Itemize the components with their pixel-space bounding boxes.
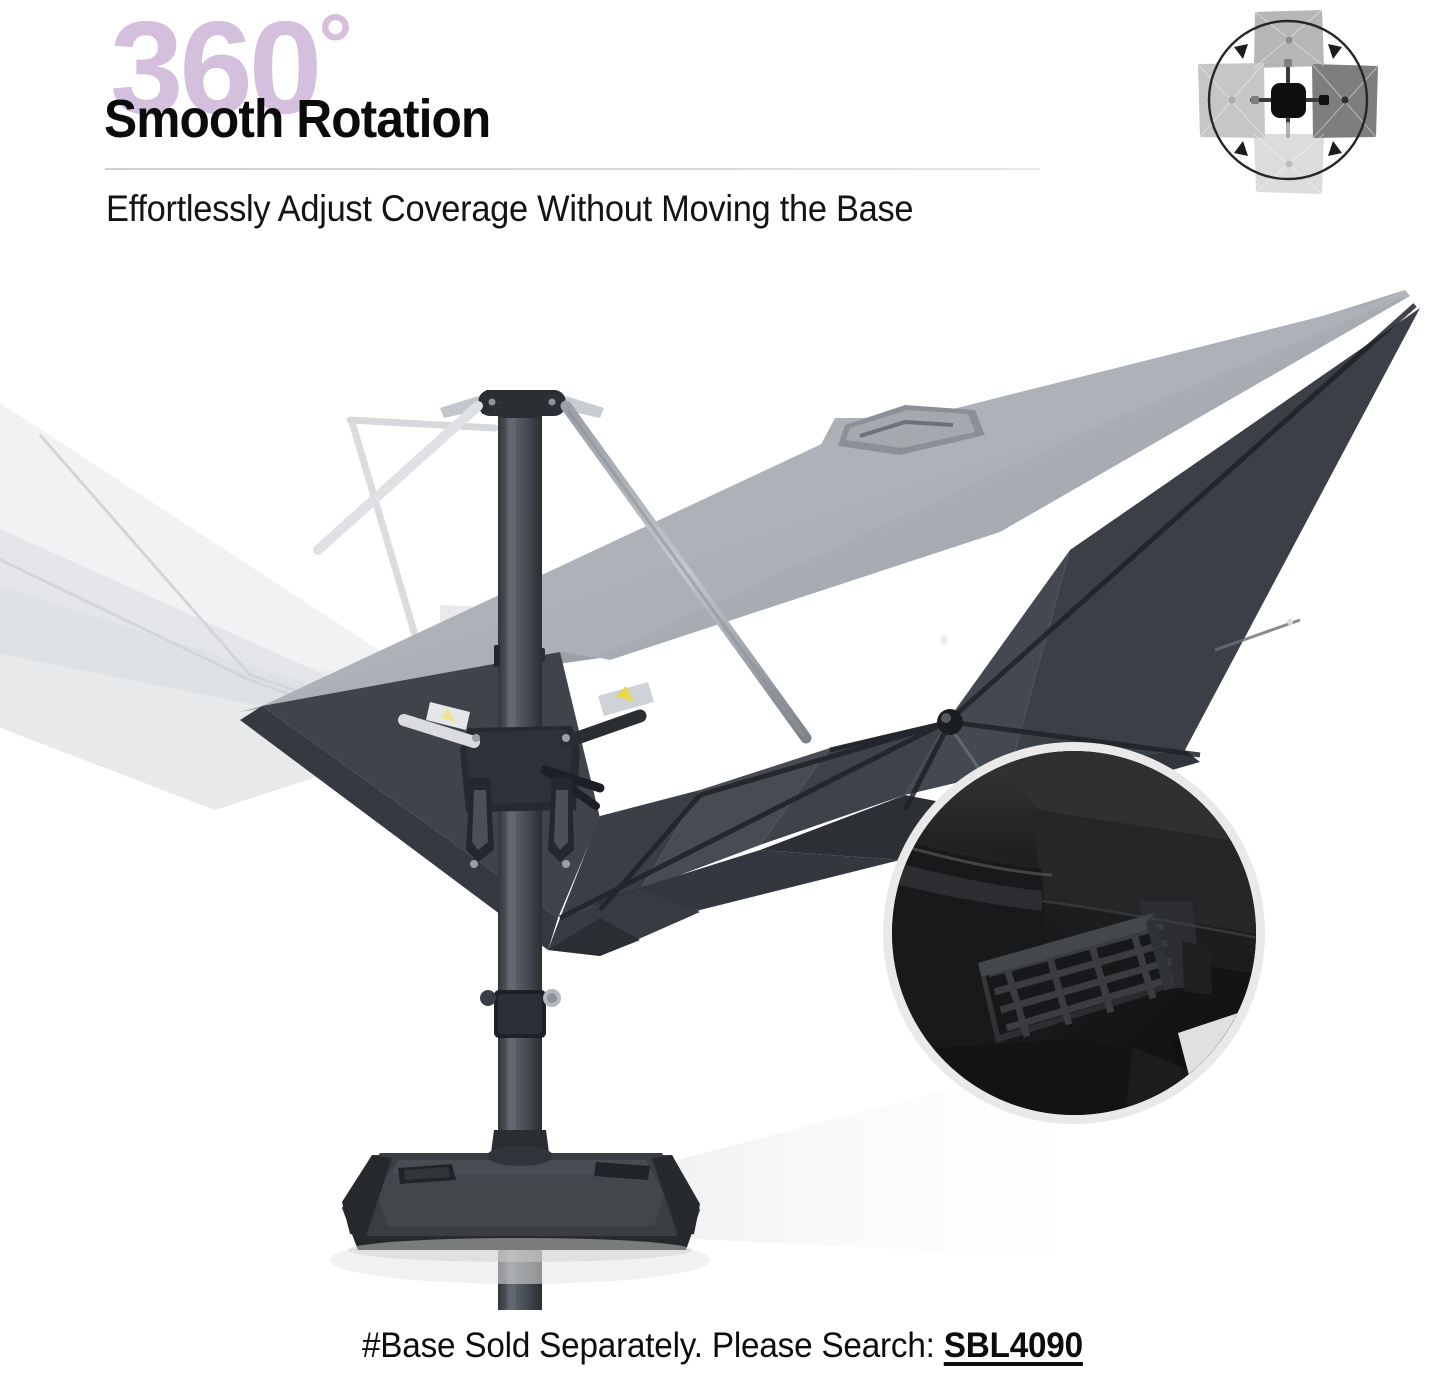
- footer-note-text: #Base Sold Separately. Please Search:: [362, 1326, 944, 1365]
- degree-symbol: °: [318, 0, 352, 93]
- footer-note: #Base Sold Separately. Please Search: SB…: [0, 1326, 1445, 1366]
- warning-label-right: [598, 682, 654, 716]
- foot-pedal-detail-inset: [883, 742, 1265, 1124]
- rotation-icon-wrap: [1188, 4, 1408, 204]
- foot-pedal-detail-image: [892, 751, 1256, 1115]
- height-adjust-collar: [480, 989, 561, 1038]
- page-subtitle: Effortlessly Adjust Coverage Without Mov…: [106, 190, 913, 227]
- product-infographic-page: 360° Smooth Rotation Effortlessly Adjust…: [0, 0, 1445, 1387]
- header-block: 360° Smooth Rotation Effortlessly Adjust…: [0, 0, 1100, 250]
- model-number: SBL4090: [944, 1326, 1083, 1365]
- page-title: Smooth Rotation: [104, 92, 490, 146]
- cantilever-umbrella-illustration: [0, 250, 1445, 1310]
- product-scene: [0, 250, 1445, 1310]
- 360-rotation-diagram-icon: [1188, 4, 1408, 204]
- weighted-base: [330, 1130, 710, 1284]
- header-divider: [105, 168, 1040, 170]
